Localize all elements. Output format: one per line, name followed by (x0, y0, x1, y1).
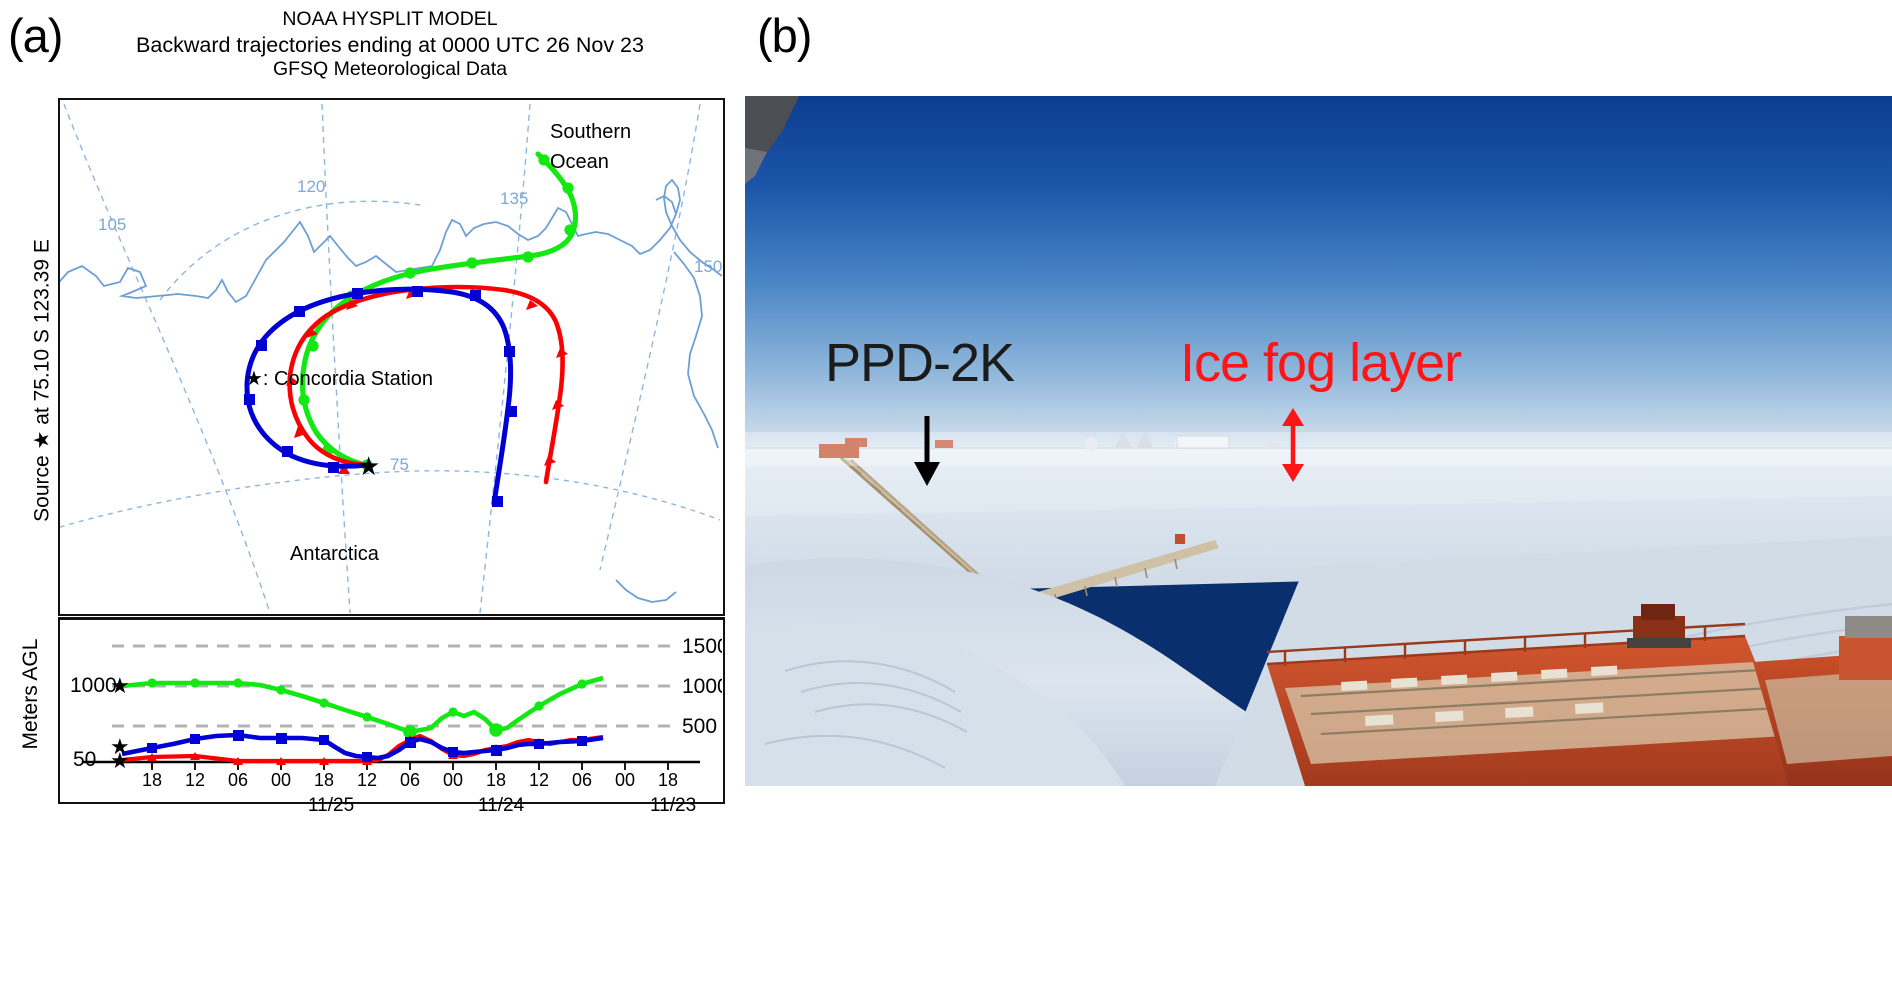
panel-b-label: (b) (757, 12, 811, 59)
meridian-label-150: 150 (694, 257, 722, 276)
height-ylabel-50: 50 (73, 748, 96, 771)
time-tick-2: 06 (228, 770, 248, 790)
annotation-ice-fog-layer: Ice fog layer (1180, 332, 1461, 394)
date-label-1124: 11/24 (478, 795, 524, 817)
panel-b-photo: PPD-2K Ice fog layer (745, 96, 1892, 786)
height-yright-1000: 1000 (682, 675, 722, 698)
map-label-antarctica: Antarctica (290, 543, 380, 565)
meters-agl-axis-label: Meters AGL (19, 609, 43, 779)
trajectory-green-markers (298, 154, 575, 470)
coastline (60, 180, 722, 602)
height-profile-svg: ★ ★ ★ 1000 50 1500 1000 500 18 12 06 00 … (60, 620, 722, 802)
time-tick-4: 18 (314, 770, 334, 790)
time-tick-6: 06 (400, 770, 420, 790)
date-label-1123: 11/23 (650, 795, 696, 817)
height-date-labels: 11/25 11/24 11/23 (58, 795, 725, 829)
panel-a-hysplit: (a) NOAA HYSPLIT MODEL Backward trajecto… (0, 0, 745, 983)
time-tick-3: 00 (271, 770, 291, 790)
figure-root: (a) NOAA HYSPLIT MODEL Backward trajecto… (0, 0, 1892, 983)
map-label-concordia: ★: Concordia Station (245, 368, 433, 390)
height-yright-1500: 1500 (682, 635, 722, 658)
time-tick-12: 18 (658, 770, 678, 790)
hysplit-title-line2: Backward trajectories ending at 0000 UTC… (60, 32, 720, 58)
meridian-label-105: 105 (98, 215, 126, 234)
time-tick-10: 06 (572, 770, 592, 790)
source-axis-label: Source ★ at 75.10 S 123.39 E (30, 171, 55, 591)
map-label-ocean: Ocean (550, 151, 609, 173)
time-tick-9: 12 (529, 770, 549, 790)
height-time-tick-labels: 18 12 06 00 18 12 06 00 18 12 06 00 18 (142, 770, 678, 790)
hysplit-title-line3: GFSQ Meteorological Data (60, 58, 720, 82)
panel-a-label: (a) (8, 12, 62, 59)
meridian-gridlines (64, 104, 700, 613)
height-profile-panel: ★ ★ ★ 1000 50 1500 1000 500 18 12 06 00 … (58, 617, 725, 804)
parallel-gridline-75 (60, 471, 720, 530)
hysplit-title-line1: NOAA HYSPLIT MODEL (60, 8, 720, 32)
hysplit-title-block: NOAA HYSPLIT MODEL Backward trajectories… (60, 8, 720, 82)
parallel-label-75: 75 (390, 455, 409, 474)
time-tick-1: 12 (185, 770, 205, 790)
height-yright-500: 500 (682, 715, 717, 738)
time-tick-11: 00 (615, 770, 635, 790)
concordia-station-star-icon: ★ (357, 451, 380, 481)
height-start-star-red-icon: ★ (110, 748, 130, 773)
time-tick-7: 00 (443, 770, 463, 790)
meridian-label-135: 135 (500, 189, 528, 208)
time-tick-8: 18 (486, 770, 506, 790)
meridian-label-120: 120 (297, 177, 325, 196)
time-tick-0: 18 (142, 770, 162, 790)
annotation-ppd-2k: PPD-2K (825, 332, 1014, 394)
sky (745, 96, 1892, 456)
trajectory-green (303, 154, 576, 465)
map-label-southern: Southern (550, 121, 631, 143)
date-label-1125: 11/25 (308, 795, 354, 817)
trajectory-map-svg: 120 105 135 150 75 (60, 100, 722, 613)
downward-arrow-icon (907, 414, 947, 488)
trajectory-map: 120 105 135 150 75 (58, 98, 725, 616)
up-down-arrow-icon (1275, 408, 1311, 482)
time-tick-5: 12 (357, 770, 377, 790)
height-ylabel-1000: 1000 (70, 674, 117, 697)
